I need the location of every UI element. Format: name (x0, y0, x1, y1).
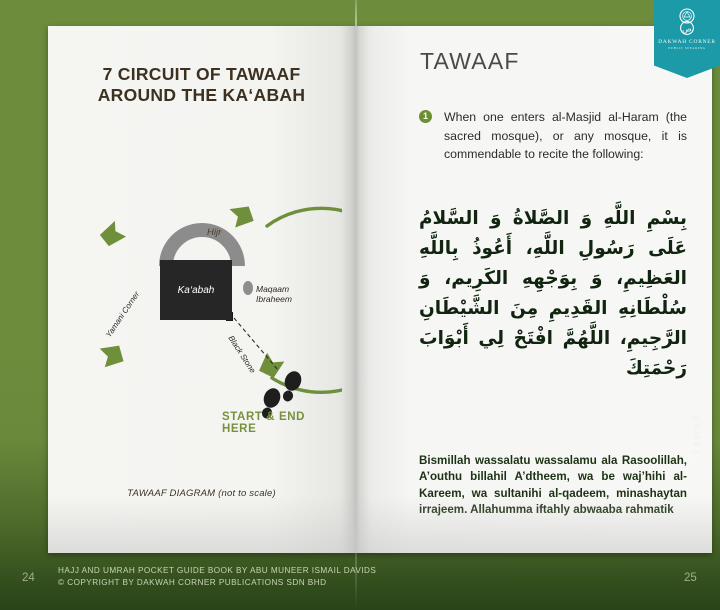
page-right: TAWAAF 1 When one enters al-Masjid al-Ha… (355, 26, 712, 553)
diagram-caption: TAWAAF DIAGRAM (not to scale) (48, 488, 355, 499)
maqaam-ibraheem-marker (243, 281, 253, 295)
left-page-title: 7 CIRCUIT OF TAWAAF AROUND THE KA‘ABAH (48, 64, 355, 107)
spine-seam-top (355, 0, 357, 27)
left-page-title-line1: 7 CIRCUIT OF TAWAAF (48, 64, 355, 85)
page-number-left: 24 (22, 572, 35, 584)
section-thumb-tab-label: TAWAF (692, 413, 702, 455)
page-number-right: 25 (684, 572, 697, 584)
arabic-dua-text: بِسْمِ اللَّهِ وَ الصَّلاةُ وَ السَّلامُ… (419, 204, 687, 384)
svg-text:ص: ص (682, 24, 692, 33)
book-footer: HAJJ AND UMRAH POCKET GUIDE BOOK BY ABU … (58, 565, 478, 590)
dakwah-corner-emblem-icon: ص (674, 7, 700, 37)
hijr-label: Hijr (207, 227, 221, 238)
maqaam-ibraheem-label: Maqaam Ibraheem (256, 284, 292, 304)
publisher-tagline: PUBLIC SPEAKING (668, 46, 705, 50)
intro-paragraph: When one enters al-Masjid al-Haram (the … (444, 108, 687, 164)
start-end-here-label: START & END HERE (222, 411, 342, 435)
right-page-content: TAWAAF 1 When one enters al-Masjid al-Ha… (355, 26, 712, 553)
kaabah-label-box: Ka‘abah (160, 260, 232, 320)
page-left: 7 CIRCUIT OF TAWAAF AROUND THE KA‘ABAH (48, 26, 355, 553)
maqaam-label-line1: Maqaam (256, 284, 289, 294)
transliteration-text: Bismillah wassalatu wassalamu ala Rasool… (419, 453, 687, 519)
kaabah-label: Ka‘abah (178, 285, 215, 296)
book-spread-image: 7 CIRCUIT OF TAWAAF AROUND THE KA‘ABAH (0, 0, 720, 610)
publisher-ribbon-logo: ص DAKWAH CORNER PUBLIC SPEAKING (654, 0, 720, 78)
page-title: TAWAAF (420, 48, 520, 75)
publisher-brand-name: DAKWAH CORNER (658, 39, 716, 45)
footer-line-1: HAJJ AND UMRAH POCKET GUIDE BOOK BY ABU … (58, 565, 478, 577)
footer-line-2: © COPYRIGHT BY DAKWAH CORNER PUBLICATION… (58, 577, 478, 589)
tawaaf-diagram: Hijr Maqaam Ibraheem Yamani Corner Black… (62, 166, 342, 466)
left-page-title-line2: AROUND THE KA‘ABAH (48, 85, 355, 106)
maqaam-label-line2: Ibraheem (256, 294, 292, 304)
open-book-pages: 7 CIRCUIT OF TAWAAF AROUND THE KA‘ABAH (48, 26, 712, 553)
bullet-number-icon: 1 (419, 110, 432, 123)
